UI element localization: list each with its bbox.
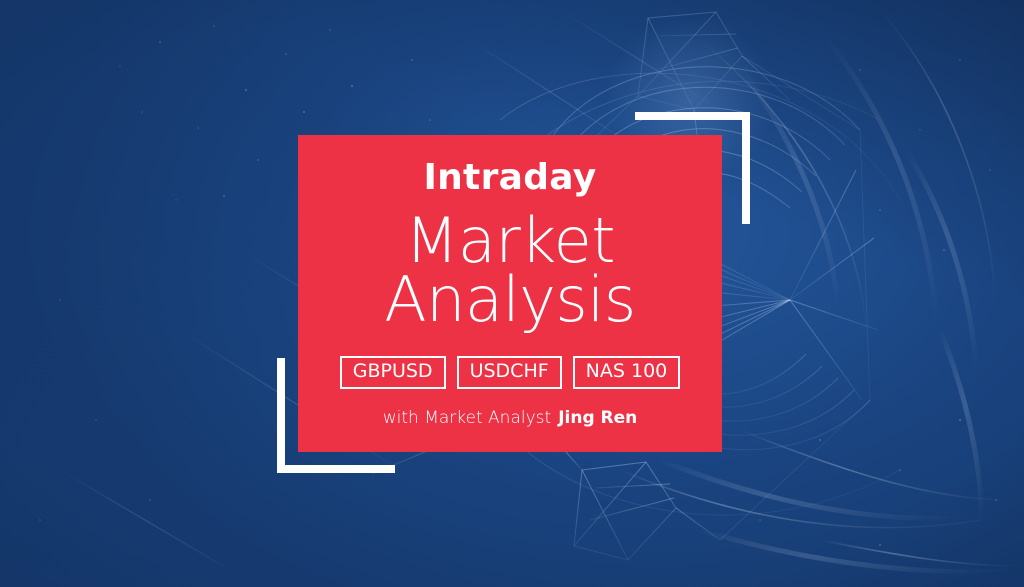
instrument-badge-usdchf[interactable]: USDCHF <box>457 356 562 389</box>
instrument-badge-gbpusd[interactable]: GBPUSD <box>340 356 446 389</box>
byline: with Market Analyst Jing Ren <box>383 408 638 428</box>
banner-stage: Intraday Market Analysis GBPUSD USDCHF N… <box>0 0 1024 587</box>
bracket-arm-horizontal <box>277 465 395 473</box>
bracket-arm-vertical <box>742 112 750 224</box>
instrument-badge-nas100[interactable]: NAS 100 <box>573 356 681 389</box>
bracket-arm-horizontal <box>635 112 750 120</box>
instrument-badge-list: GBPUSD USDCHF NAS 100 <box>340 356 681 389</box>
bracket-arm-vertical <box>277 358 285 473</box>
byline-prefix: with Market Analyst <box>383 408 551 428</box>
page-title-line-2: Analysis <box>384 270 635 331</box>
kicker-text: Intraday <box>423 159 596 197</box>
byline-analyst-name: Jing Ren <box>558 408 637 428</box>
title-panel: Intraday Market Analysis GBPUSD USDCHF N… <box>298 135 722 452</box>
